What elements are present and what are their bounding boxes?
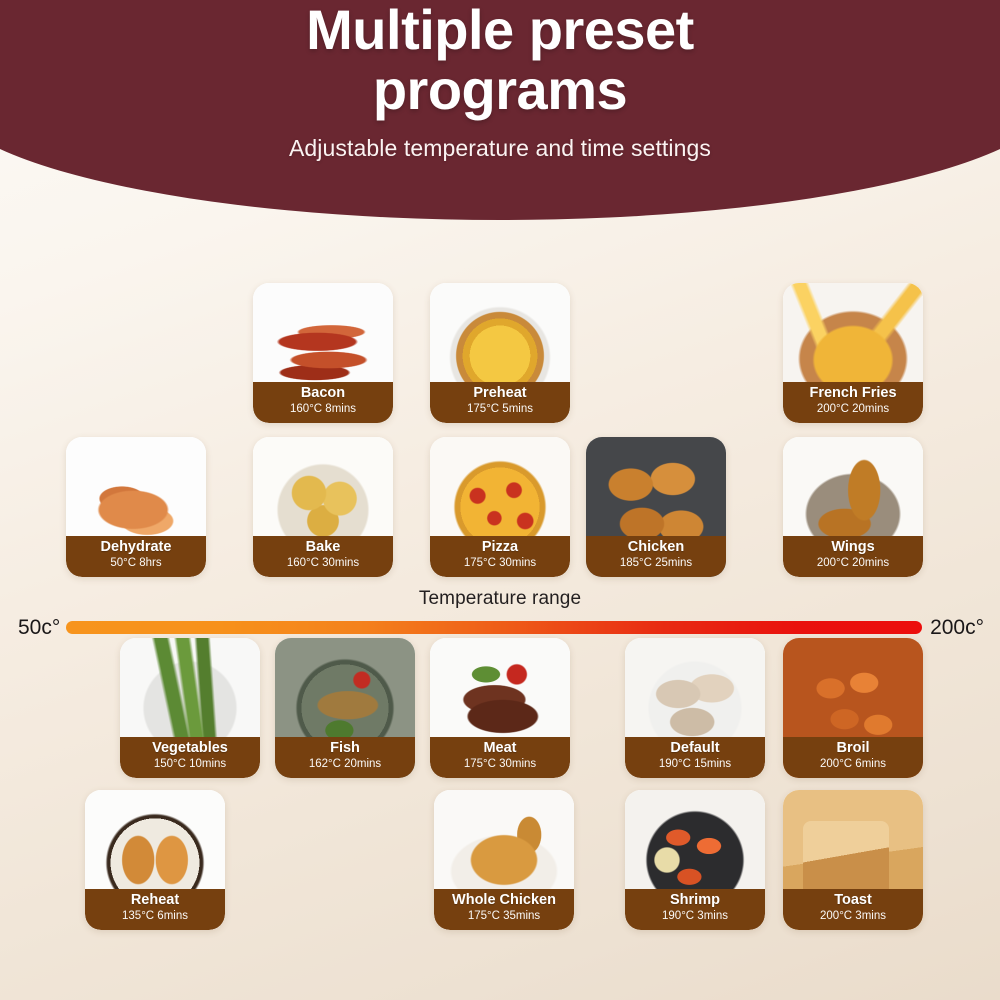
preset-label-bake: Bake 160°C 30mins [253,536,393,577]
preset-name: Chicken [586,539,726,556]
preset-card-broil[interactable]: Broil 200°C 6mins [783,638,923,778]
preset-name: Fish [275,740,415,757]
preset-label-pizza: Pizza 175°C 30mins [430,536,570,577]
preset-spec: 190°C 3mins [625,909,765,923]
preset-label-fish: Fish 162°C 20mins [275,737,415,778]
preset-spec: 160°C 8mins [253,402,393,416]
preset-spec: 200°C 3mins [783,909,923,923]
preset-label-chicken: Chicken 185°C 25mins [586,536,726,577]
preset-name: Wings [783,539,923,556]
preset-label-dehydrate: Dehydrate 50°C 8hrs [66,536,206,577]
preset-label-toast: Toast 200°C 3mins [783,889,923,930]
preset-name: Whole Chicken [434,892,574,909]
preset-card-shrimp[interactable]: Shrimp 190°C 3mins [625,790,765,930]
preset-name: Toast [783,892,923,909]
temperature-min-label: 50c° [0,617,66,638]
preset-spec: 162°C 20mins [275,757,415,771]
preset-card-toast[interactable]: Toast 200°C 3mins [783,790,923,930]
preset-card-vegetables[interactable]: Vegetables 150°C 10mins [120,638,260,778]
preset-card-whole-chicken[interactable]: Whole Chicken 175°C 35mins [434,790,574,930]
preset-name: Dehydrate [66,539,206,556]
preset-spec: 150°C 10mins [120,757,260,771]
preset-spec: 175°C 35mins [434,909,574,923]
preset-name: Bacon [253,385,393,402]
preset-card-wings[interactable]: Wings 200°C 20mins [783,437,923,577]
preset-spec: 175°C 5mins [430,402,570,416]
page-title-line-2: programs [30,60,971,120]
preset-name: French Fries [783,385,923,402]
preset-card-chicken[interactable]: Chicken 185°C 25mins [586,437,726,577]
preset-name: Vegetables [120,740,260,757]
preset-name: Shrimp [625,892,765,909]
page-title-line-1: Multiple preset [30,0,971,60]
temperature-gradient-bar [66,621,922,634]
preset-card-fish[interactable]: Fish 162°C 20mins [275,638,415,778]
preset-card-dehydrate[interactable]: Dehydrate 50°C 8hrs [66,437,206,577]
temperature-range-section: Temperature range 50c° 200c° [0,588,1000,636]
preset-card-bake[interactable]: Bake 160°C 30mins [253,437,393,577]
preset-label-preheat: Preheat 175°C 5mins [430,382,570,423]
preset-spec: 200°C 20mins [783,556,923,570]
preset-spec: 175°C 30mins [430,757,570,771]
preset-card-preheat[interactable]: Preheat 175°C 5mins [430,283,570,423]
temperature-range-title: Temperature range [0,588,1000,610]
preset-label-french-fries: French Fries 200°C 20mins [783,382,923,423]
preset-label-shrimp: Shrimp 190°C 3mins [625,889,765,930]
preset-label-broil: Broil 200°C 6mins [783,737,923,778]
preset-name: Reheat [85,892,225,909]
preset-spec: 135°C 6mins [85,909,225,923]
preset-card-default[interactable]: Default 190°C 15mins [625,638,765,778]
preset-name: Broil [783,740,923,757]
preset-name: Bake [253,539,393,556]
preset-label-vegetables: Vegetables 150°C 10mins [120,737,260,778]
preset-label-bacon: Bacon 160°C 8mins [253,382,393,423]
preset-card-french-fries[interactable]: French Fries 200°C 20mins [783,283,923,423]
temperature-bar-row: 50c° 200c° [0,614,1000,640]
preset-name: Default [625,740,765,757]
preset-spec: 175°C 30mins [430,556,570,570]
preset-card-bacon[interactable]: Bacon 160°C 8mins [253,283,393,423]
preset-card-reheat[interactable]: Reheat 135°C 6mins [85,790,225,930]
preset-spec: 185°C 25mins [586,556,726,570]
preset-name: Preheat [430,385,570,402]
preset-card-pizza[interactable]: Pizza 175°C 30mins [430,437,570,577]
preset-label-default: Default 190°C 15mins [625,737,765,778]
preset-label-wings: Wings 200°C 20mins [783,536,923,577]
preset-spec: 50°C 8hrs [66,556,206,570]
header-text-block: Multiple preset programs Adjustable temp… [0,0,1000,162]
temperature-max-label: 200c° [922,617,1000,638]
preset-label-whole-chicken: Whole Chicken 175°C 35mins [434,889,574,930]
preset-spec: 160°C 30mins [253,556,393,570]
preset-label-reheat: Reheat 135°C 6mins [85,889,225,930]
header-banner: Multiple preset programs Adjustable temp… [0,0,1000,220]
preset-name: Meat [430,740,570,757]
preset-spec: 200°C 6mins [783,757,923,771]
preset-spec: 190°C 15mins [625,757,765,771]
preset-card-meat[interactable]: Meat 175°C 30mins [430,638,570,778]
page-subtitle: Adjustable temperature and time settings [30,135,971,162]
preset-name: Pizza [430,539,570,556]
preset-spec: 200°C 20mins [783,402,923,416]
preset-label-meat: Meat 175°C 30mins [430,737,570,778]
